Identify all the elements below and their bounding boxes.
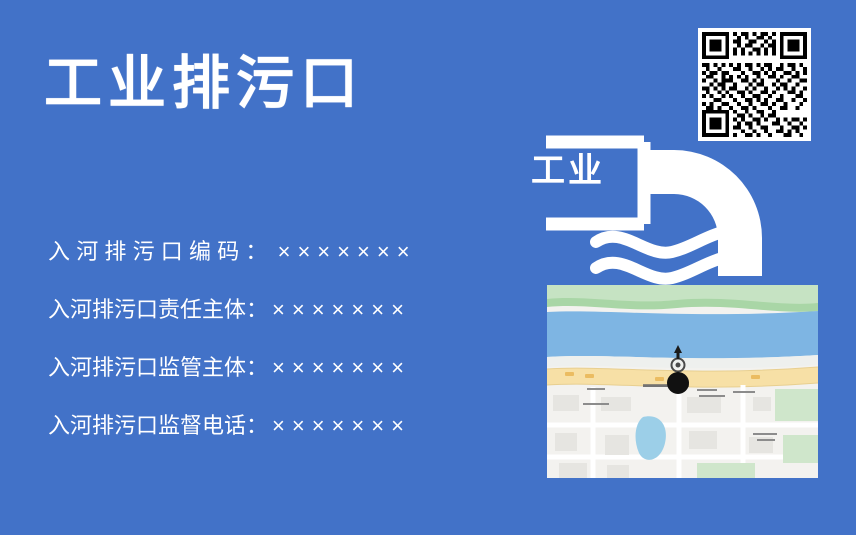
info-value: ××××××× (272, 412, 411, 440)
info-label: 入河排污口监督电话： (48, 412, 268, 440)
page-title: 工业排污口 (44, 48, 364, 120)
info-label: 入河排污口编码： (48, 238, 274, 266)
info-list: 入河排污口编码： ××××××× 入河排污口责任主体： ××××××× 入河排污… (48, 238, 518, 470)
location-map[interactable] (547, 285, 818, 478)
info-row: 入河排污口监督电话： ××××××× (48, 412, 518, 470)
info-value: ××××××× (278, 238, 417, 266)
info-value: ××××××× (272, 354, 411, 382)
info-label: 入河排污口监管主体： (48, 354, 268, 382)
outlet-icon-label: 工业 (531, 150, 605, 192)
info-row: 入河排污口责任主体： ××××××× (48, 296, 518, 354)
info-row: 入河排污口编码： ××××××× (48, 238, 518, 296)
info-label: 入河排污口责任主体： (48, 296, 268, 324)
info-value: ××××××× (272, 296, 411, 324)
qr-code[interactable] (698, 28, 811, 141)
info-row: 入河排污口监管主体： ××××××× (48, 354, 518, 412)
industrial-outfall-sign: 工业排污口 (0, 0, 856, 535)
